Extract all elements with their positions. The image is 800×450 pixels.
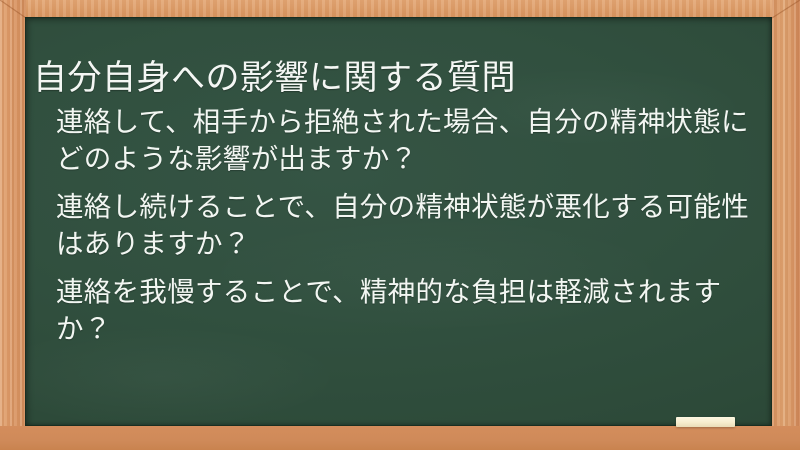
frame-rail-bottom: [0, 426, 800, 450]
chalkboard-surface: 自分自身への影響に関する質問 連絡して、相手から拒絶された場合、自分の精神状態に…: [25, 17, 772, 426]
frame-rail-right: [772, 0, 800, 450]
list-item: 連絡を我慢することで、精神的な負担は軽減されますか？: [56, 273, 760, 347]
slide-canvas: 自分自身への影響に関する質問 連絡して、相手から拒絶された場合、自分の精神状態に…: [0, 0, 800, 450]
list-item: 連絡して、相手から拒絶された場合、自分の精神状態にどのような影響が出ますか？: [56, 103, 760, 177]
list-item: 連絡し続けることで、自分の精神状態が悪化する可能性はありますか？: [56, 188, 760, 262]
frame-rail-left: [0, 0, 26, 450]
frame-rail-top: [0, 0, 800, 18]
question-list: 連絡して、相手から拒絶された場合、自分の精神状態にどのような影響が出ますか？ 連…: [56, 103, 760, 347]
page-title: 自分自身への影響に関する質問: [33, 57, 753, 99]
chalk-stick: [676, 417, 735, 427]
